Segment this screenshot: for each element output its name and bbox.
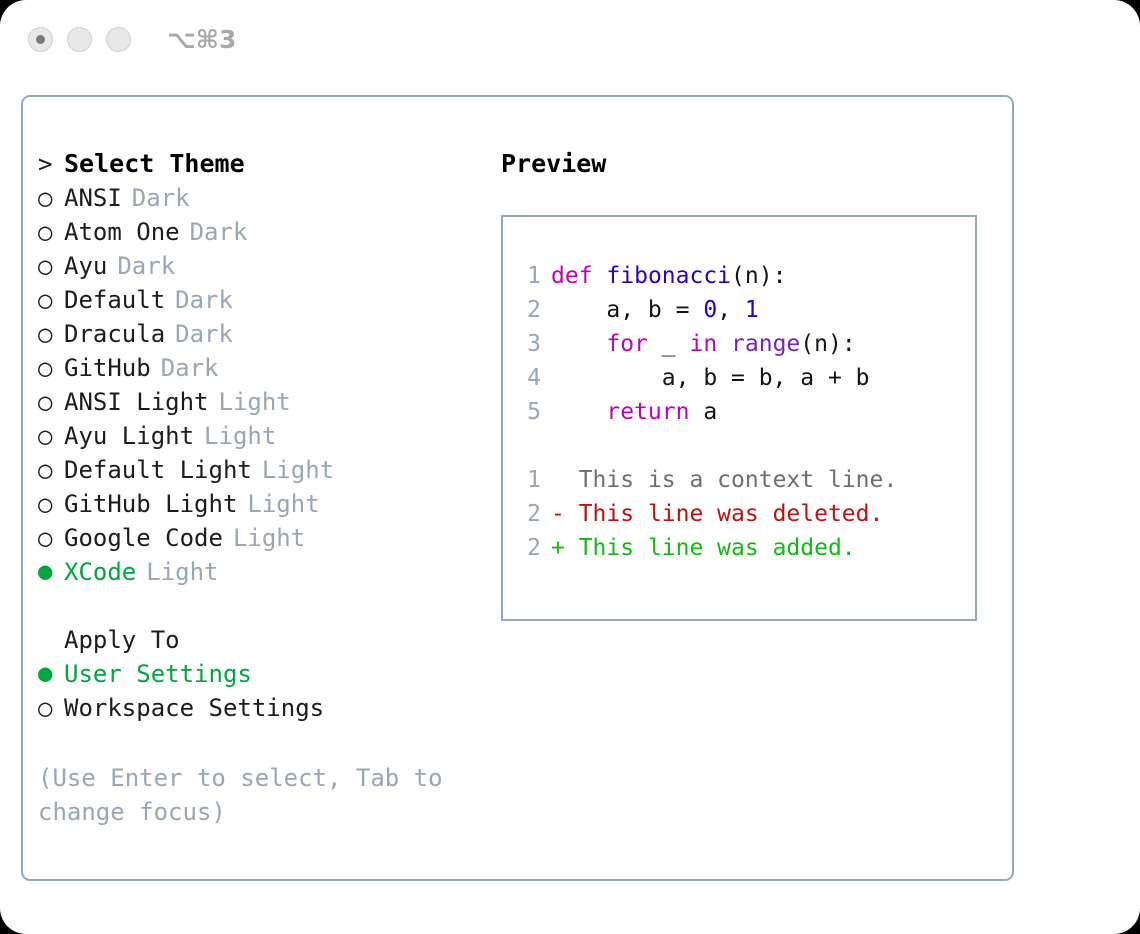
theme-list-item[interactable]: ○ANSIDark: [38, 181, 488, 215]
radio-selected-icon[interactable]: ●: [38, 656, 64, 690]
theme-list-item[interactable]: ○Default LightLight: [38, 453, 488, 487]
radio-unselected-icon[interactable]: ○: [38, 249, 64, 283]
radio-unselected-icon[interactable]: ○: [38, 385, 64, 419]
theme-kind-badge: Dark: [175, 283, 233, 317]
apply-to-option-label: Workspace Settings: [64, 691, 324, 725]
radio-selected-icon[interactable]: ●: [38, 554, 64, 588]
theme-kind-badge: Dark: [161, 351, 219, 385]
select-theme-heading: Select Theme: [64, 147, 245, 181]
diff-line-text: This line was deleted.: [565, 497, 884, 531]
code-line: 2 a, b = 0, 1: [515, 293, 967, 327]
theme-name-label: ANSI: [64, 181, 122, 215]
theme-list-item[interactable]: ○Google CodeLight: [38, 521, 488, 555]
preview-panel: Preview 1def fibonacci(n):2 a, b = 0, 13…: [501, 147, 977, 621]
apply-to-option[interactable]: ○Workspace Settings: [38, 691, 488, 725]
theme-list-item[interactable]: ●XCodeLight: [38, 555, 488, 589]
radio-unselected-icon[interactable]: ○: [38, 181, 64, 215]
line-number: 2: [515, 293, 541, 327]
theme-list-item[interactable]: ○Atom OneDark: [38, 215, 488, 249]
apply-to-marker-placeholder: [38, 623, 64, 657]
code-token: [717, 331, 731, 357]
diff-line-text: This line was added.: [565, 531, 856, 565]
apply-to-heading: Apply To: [64, 623, 180, 657]
theme-kind-badge: Dark: [190, 215, 248, 249]
code-token: return: [606, 399, 689, 425]
code-line-content: a, b = b, a + b: [551, 361, 870, 395]
apply-to-option-label: User Settings: [64, 657, 252, 691]
theme-kind-badge: Dark: [132, 181, 190, 215]
code-token: (n):: [731, 263, 786, 289]
theme-name-label: Atom One: [64, 215, 180, 249]
code-line-content: return a: [551, 395, 717, 429]
line-number: 3: [515, 327, 541, 361]
code-token: a, b = b, a + b: [551, 365, 870, 391]
theme-list: ○ANSIDark○Atom OneDark○AyuDark○DefaultDa…: [38, 181, 488, 589]
theme-name-label: Dracula: [64, 317, 165, 351]
theme-name-label: Default: [64, 283, 165, 317]
radio-unselected-icon[interactable]: ○: [38, 419, 64, 453]
code-line: 1def fibonacci(n):: [515, 259, 967, 293]
preview-title: Preview: [501, 147, 977, 181]
section-spacer: [38, 589, 488, 623]
code-token: [593, 263, 607, 289]
code-token: 1: [745, 297, 759, 323]
theme-kind-badge: Light: [204, 419, 276, 453]
prompt-caret-icon: >: [38, 147, 64, 181]
radio-unselected-icon[interactable]: ○: [38, 215, 64, 249]
theme-list-item[interactable]: ○DefaultDark: [38, 283, 488, 317]
code-token: ,: [717, 297, 745, 323]
radio-unselected-icon[interactable]: ○: [38, 317, 64, 351]
diff-line: 2+ This line was added.: [515, 531, 967, 565]
theme-list-item[interactable]: ○DraculaDark: [38, 317, 488, 351]
theme-kind-badge: Light: [146, 555, 218, 589]
apply-to-heading-row: Apply To: [38, 623, 488, 657]
code-token: range: [731, 331, 800, 357]
code-line-content: def fibonacci(n):: [551, 259, 786, 293]
tui-window: > Select Theme ○ANSIDark○Atom OneDark○Ay…: [21, 95, 1014, 881]
code-preview-area: 1def fibonacci(n):2 a, b = 0, 13 for _ i…: [515, 259, 967, 565]
syntax-sample-code: 1def fibonacci(n):2 a, b = 0, 13 for _ i…: [515, 259, 967, 429]
theme-kind-badge: Light: [219, 385, 291, 419]
active-indicator-icon: [36, 35, 45, 44]
diff-line: 1 This is a context line.: [515, 463, 967, 497]
theme-kind-badge: Light: [233, 521, 305, 555]
code-token: def: [551, 263, 593, 289]
theme-list-item[interactable]: ○Ayu LightLight: [38, 419, 488, 453]
radio-unselected-icon[interactable]: ○: [38, 351, 64, 385]
app-window: ⌥⌘3 > Select Theme ○ANSIDark○Atom OneDar…: [0, 0, 1140, 934]
code-token: 0: [703, 297, 717, 323]
theme-name-label: Ayu: [64, 249, 107, 283]
diff-sign: [551, 463, 565, 497]
apply-to-option[interactable]: ●User Settings: [38, 657, 488, 691]
code-line-content: for _ in range(n):: [551, 327, 856, 361]
theme-name-label: ANSI Light: [64, 385, 209, 419]
window-controls: [28, 27, 131, 52]
keyboard-hint-text: (Use Enter to select, Tab to change focu…: [38, 761, 468, 829]
theme-name-label: Google Code: [64, 521, 223, 555]
theme-kind-badge: Light: [262, 453, 334, 487]
theme-name-label: XCode: [64, 555, 136, 589]
code-token: _: [648, 331, 690, 357]
code-line: 3 for _ in range(n):: [515, 327, 967, 361]
diff-line: 2- This line was deleted.: [515, 497, 967, 531]
radio-unselected-icon[interactable]: ○: [38, 283, 64, 317]
radio-unselected-icon[interactable]: ○: [38, 487, 64, 521]
radio-unselected-icon[interactable]: ○: [38, 691, 64, 725]
code-diff-gap: [515, 429, 967, 463]
diff-line-text: This is a context line.: [565, 463, 897, 497]
window-control-dot-3[interactable]: [106, 27, 131, 52]
code-token: [551, 331, 606, 357]
line-number: 1: [515, 259, 541, 293]
theme-list-item[interactable]: ○GitHub LightLight: [38, 487, 488, 521]
select-theme-heading-row: > Select Theme: [38, 147, 488, 181]
code-token: a, b =: [551, 297, 703, 323]
line-number: 1: [515, 463, 541, 497]
theme-list-item[interactable]: ○ANSI LightLight: [38, 385, 488, 419]
diff-sign: -: [551, 497, 565, 531]
theme-name-label: Default Light: [64, 453, 252, 487]
theme-kind-badge: Light: [247, 487, 319, 521]
line-number: 2: [515, 497, 541, 531]
code-token: [551, 399, 606, 425]
theme-list-item[interactable]: ○AyuDark: [38, 249, 488, 283]
radio-unselected-icon[interactable]: ○: [38, 521, 64, 555]
keyboard-shortcut-label: ⌥⌘3: [167, 25, 236, 54]
diff-sample-block: 1 This is a context line.2- This line wa…: [515, 463, 967, 565]
radio-unselected-icon[interactable]: ○: [38, 453, 64, 487]
code-line: 5 return a: [515, 395, 967, 429]
theme-name-label: GitHub Light: [64, 487, 237, 521]
code-token: (n):: [800, 331, 855, 357]
title-bar: ⌥⌘3: [0, 0, 1140, 78]
theme-selector-panel: > Select Theme ○ANSIDark○Atom OneDark○Ay…: [38, 147, 488, 725]
theme-list-item[interactable]: ○GitHubDark: [38, 351, 488, 385]
theme-kind-badge: Dark: [175, 317, 233, 351]
line-number: 5: [515, 395, 541, 429]
code-token: a: [689, 399, 717, 425]
window-control-dot-1[interactable]: [28, 27, 53, 52]
preview-box: 1def fibonacci(n):2 a, b = 0, 13 for _ i…: [501, 215, 977, 621]
theme-kind-badge: Dark: [117, 249, 175, 283]
code-line-content: a, b = 0, 1: [551, 293, 759, 327]
diff-sign: +: [551, 531, 565, 565]
code-token: fibonacci: [606, 263, 731, 289]
line-number: 4: [515, 361, 541, 395]
code-line: 4 a, b = b, a + b: [515, 361, 967, 395]
theme-name-label: GitHub: [64, 351, 151, 385]
theme-name-label: Ayu Light: [64, 419, 194, 453]
code-token: in: [689, 331, 717, 357]
line-number: 2: [515, 531, 541, 565]
code-token: for: [606, 331, 648, 357]
apply-to-option-list: ●User Settings○Workspace Settings: [38, 657, 488, 725]
window-control-dot-2[interactable]: [67, 27, 92, 52]
